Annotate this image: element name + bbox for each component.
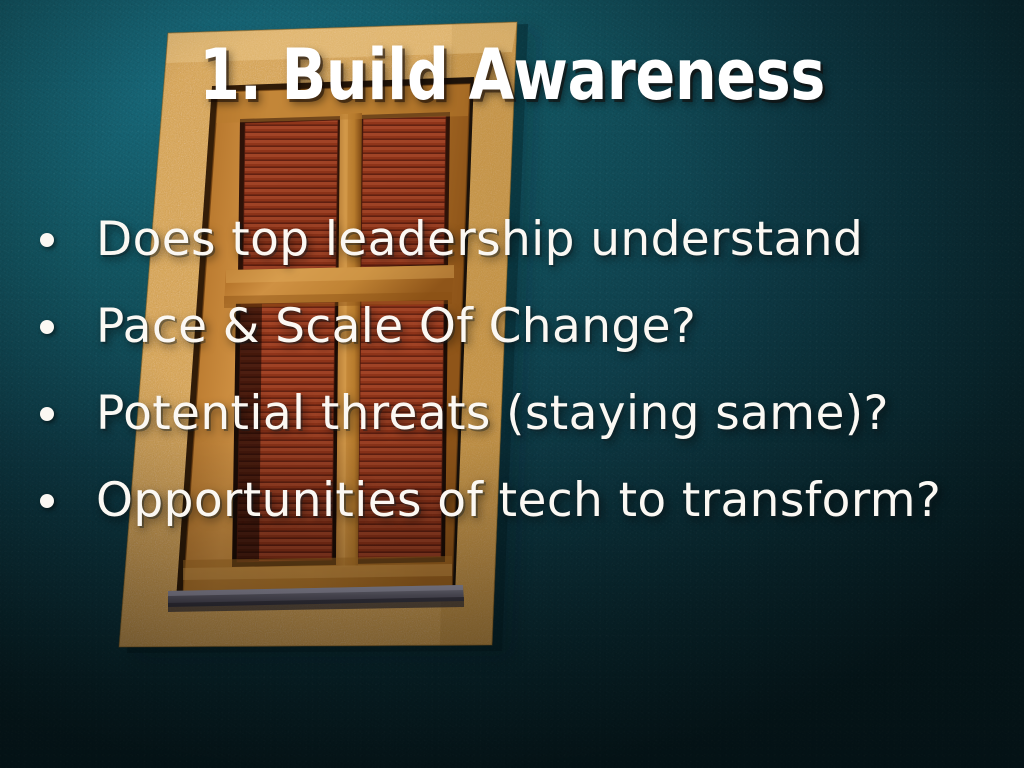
bullet-dot-icon	[40, 233, 54, 247]
bullet-text: Opportunities of tech to transform?	[96, 476, 941, 526]
bullet-dot-icon	[40, 494, 54, 508]
bullet-text: Pace & Scale Of Change?	[96, 302, 696, 352]
bullet-dot-icon	[40, 320, 54, 334]
slide-title: 1. Build Awareness	[82, 38, 942, 112]
presentation-slide: 1. Build Awareness Does top leadership u…	[0, 0, 1024, 768]
bullet-dot-icon	[40, 407, 54, 421]
list-item: Pace & Scale Of Change?	[34, 283, 994, 370]
list-item: Opportunities of tech to transform?	[34, 457, 994, 544]
slide-bullet-list: Does top leadership understand Pace & Sc…	[34, 196, 994, 544]
bullet-text: Does top leadership understand	[96, 215, 863, 265]
bullet-text: Potential threats (staying same)?	[96, 389, 889, 439]
list-item: Does top leadership understand	[34, 196, 994, 283]
list-item: Potential threats (staying same)?	[34, 370, 994, 457]
